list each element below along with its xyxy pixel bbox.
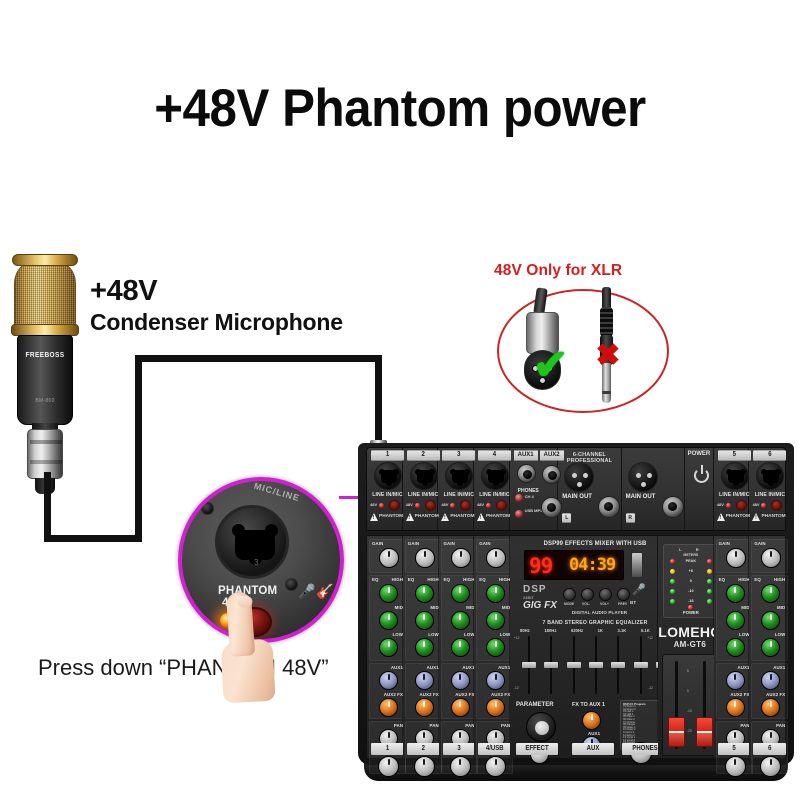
rear-channel-2[interactable]: 2 LINE IN/MIC 48V PHANTOM [403,448,439,530]
effect-tab: EFFECT [516,743,558,755]
phantom-button-4[interactable] [496,500,507,511]
eq-frequency-labels: 80Hz 180Hz 630Hz 1K 3.1K 5.1K 10K [520,628,672,633]
eq-high-knob[interactable] [761,584,780,603]
aux1-label: AUX1 [498,665,510,670]
rear-power-section[interactable]: POWER [685,448,714,530]
phantom-button-1[interactable] [389,500,400,511]
rear-channel-5[interactable]: 5 LINE IN/MIC 48V PHANTOM [714,448,750,530]
eq-mid-knob[interactable] [761,611,780,630]
high-label: HIGH [774,577,785,582]
eq-high-knob[interactable] [486,584,505,603]
eq-high-knob[interactable] [726,584,745,603]
panel-screw [201,502,214,515]
audio-mixer: 1 LINE IN/MIC 48V PHANTOM 2 LINE IN/MIC … [358,443,794,783]
master-fader-left[interactable] [668,717,685,747]
led-display: 99 04:39 [524,550,624,580]
48v-label: 48V [477,502,484,507]
channel-number-tab: 1 [371,450,404,460]
green-check-icon: ✔ [533,345,573,385]
eq-label: EQ [408,577,415,582]
channel-strip-6[interactable]: GAIN EQ HIGH MID LOW AUX1 AUX2 FX PAN [749,536,785,758]
eq-label: EQ [719,577,726,582]
graphic-eq-sliders[interactable] [522,636,670,694]
gain-section[interactable]: GAIN [476,539,513,573]
channel-strip-2[interactable]: GAIN EQ HIGH MID LOW AUX1 AUX2 FX PAN [403,536,439,758]
eq-mid-knob[interactable] [379,611,398,630]
phantom-label: PHANTOM [726,514,750,519]
aux1-knob[interactable] [761,671,780,690]
rear-aux-section[interactable]: AUX1 AUX2 CH 4 USB MP3 PHONES [510,448,559,530]
eq-section[interactable]: EQ HIGH MID LOW [369,575,406,661]
player-btn-label-prev: PREV [618,602,627,606]
gain-label: GAIN [372,541,383,546]
channel-number-tab: 2 [407,450,440,460]
eq-section[interactable]: EQ HIGH MID LOW [716,575,753,661]
combo-jack-2[interactable] [410,462,438,490]
high-label: HIGH [392,577,403,582]
low-label: LOW [775,632,786,637]
mic-body: FREEBOSS BM-800 [17,335,73,425]
eq-mid-knob[interactable] [486,611,505,630]
phantom-label: PHANTOM [379,514,403,519]
aux1-knob[interactable] [415,671,434,690]
aux1-label: AUX1 [773,665,785,670]
aux-section[interactable]: AUX1 AUX2 FX [751,663,788,719]
phantom-label: PHANTOM [486,514,510,519]
aux-section[interactable]: AUX1 AUX2 FX [369,663,406,719]
gain-label: GAIN [754,541,765,546]
aux1-knob[interactable] [451,671,470,690]
warning-icon [752,513,760,521]
aux1-label: AUX1 [737,665,749,670]
xlr-cable-segment [44,535,142,542]
eq-scale-top-left: +12 [514,636,519,640]
mixer-rear-panel: 1 LINE IN/MIC 48V PHANTOM 2 LINE IN/MIC … [366,447,786,531]
eq-high-knob[interactable] [379,584,398,603]
high-label: HIGH [463,577,474,582]
dsp-logo: DSP 24BIT GIG FX [523,584,558,606]
fader-scale: 0 [687,689,689,693]
fader-scale: 5 [687,669,689,673]
ch4-rca-label: CH 4 [525,494,534,499]
xlr-cable-segment [135,355,142,542]
aux1-knob[interactable] [726,671,745,690]
level-meter: L R METERS PEAK +6 0 -10 -16 POWER [663,544,717,618]
player-button-prev[interactable] [617,588,630,601]
phones-label: PHONES [518,488,539,494]
phantom-label: PHANTOM [761,514,785,519]
gain-section[interactable]: GAIN [369,539,406,573]
condenser-microphone: FREEBOSS BM-800 [8,252,86,502]
48v-led [415,503,420,508]
dsp-logo-text: DSP [523,584,558,595]
gain-knob[interactable] [726,548,746,568]
mic-ring-top [12,254,78,266]
eq-low-knob[interactable] [379,638,398,657]
mic-model-label: BM-800 [18,398,72,404]
48v-led [379,503,384,508]
phantom-button-3[interactable] [460,500,471,511]
guitar-icon: 🎸 [316,583,333,600]
eq-slider[interactable] [522,636,536,694]
rear-main-right[interactable]: MAIN OUT R [622,448,685,530]
rear-channel-4[interactable]: 4 LINE IN/MIC 48V PHANTOM [474,448,510,530]
eq-low-knob[interactable] [486,638,505,657]
meter-row-zero: 0 [664,579,718,587]
combo-jack-1[interactable] [374,462,402,490]
48v-label: 48V [717,502,724,507]
pan-label: PAN [501,723,510,728]
channel-tab: 5 [718,743,751,755]
combo-jack-4[interactable] [481,462,509,490]
meter-row-minus10: -10 [664,589,718,597]
mic-grille [14,258,76,330]
warning-icon [370,513,378,521]
meter-brand-fader-section: L R METERS PEAK +6 0 -10 -16 POWER [658,536,714,758]
eq-freq: 5.1K [641,628,650,633]
eq-high-knob[interactable] [415,584,434,603]
low-label: LOW [500,632,511,637]
xlr-cable-segment [135,355,382,362]
aux1-label: AUX1 [391,665,403,670]
eq-section[interactable]: EQ HIGH MID LOW [751,575,788,661]
eq-scale-bottom-left: -12 [514,686,519,690]
player-button-volup[interactable] [599,588,612,601]
master-fader-well: 5 0 -10 -20 [662,654,718,756]
warning-icon [441,513,449,521]
aux2fx-label: AUX2 FX [491,692,510,697]
player-button-mode[interactable] [563,588,576,601]
gain-knob[interactable] [451,548,471,568]
pan-label: PAN [430,723,439,728]
eq-mid-knob[interactable] [451,611,470,630]
aux2-fx-knob[interactable] [415,698,434,717]
gain-knob[interactable] [379,548,399,568]
aux-section[interactable]: AUX1 AUX2 FX [716,663,753,719]
channel-tab: 4/USB [478,743,511,755]
gain-label: GAIN [479,541,490,546]
low-label: LOW [428,632,439,637]
mixer-control-surface: GAIN EQ HIGH MID LOW AUX1 AUX2 FX PAN [366,535,786,759]
mic-voltage-label: +48V [90,275,157,308]
meter-row-peak: PEAK [664,559,718,567]
main-out-label-left: MAIN OUT [562,494,592,501]
eq-section[interactable]: EQ HIGH MID LOW [441,575,478,661]
channel-number-tab: 5 [718,450,751,460]
pan-label: PAN [740,723,749,728]
low-label: LOW [392,632,403,637]
mid-label: MID [430,605,438,610]
48v-led [486,503,491,508]
display-time: 04:39 [569,555,615,575]
gain-section[interactable]: GAIN [441,539,478,573]
48v-label: 48V [406,502,413,507]
eq-slider[interactable] [544,636,558,694]
channel-tab: 1 [371,743,404,755]
eq-mid-knob[interactable] [415,611,434,630]
high-label: HIGH [738,577,749,582]
gain-knob[interactable] [761,548,781,568]
combo-jack-5[interactable] [721,462,749,490]
aux2-fx-knob[interactable] [486,698,505,717]
eq-freq: 80Hz [520,628,530,633]
xlr-combo-jack[interactable]: 3 [215,505,289,579]
display-number: 99 [529,554,552,578]
aux2fx-label: AUX2 FX [730,692,749,697]
aux2-fx-knob[interactable] [379,698,398,717]
aux1-knob[interactable] [379,671,398,690]
warning-icon [717,513,725,521]
red-cross-icon: ✖ [594,342,622,370]
channel-strip-3[interactable]: GAIN EQ HIGH MID LOW AUX1 AUX2 FX PAN [439,536,475,758]
player-btn-label-volup: VOL+ [600,602,609,606]
48v-label: 48V [441,502,448,507]
level-knob[interactable] [450,756,471,777]
xlr-cable-segment [44,472,51,542]
main-out-xlr-left[interactable] [564,462,594,492]
microphone-icon: 🎤 [298,583,315,600]
dsp-center-section: DSP99 EFFECTS MIXER WITH USB 99 04:39 DS… [510,536,658,758]
aux1-jack[interactable] [517,464,536,483]
eq-label: EQ [754,577,761,582]
line-in-mic-label: LINE IN/MIC [749,492,790,498]
aux-section[interactable]: AUX1 AUX2 FX [405,663,442,719]
ch4-rca-jack[interactable] [515,494,523,502]
aux-section[interactable]: AUX1 AUX2 FX [441,663,478,719]
aux2-fx-knob[interactable] [451,698,470,717]
power-symbol-icon[interactable] [694,468,709,483]
channel-number-tab: 4 [478,450,511,460]
eq-low-knob[interactable] [726,638,745,657]
parameter-knob[interactable] [526,712,556,742]
main-out-label-right: MAIN OUT [626,494,656,501]
48v-led [761,503,766,508]
phantom-label: PHANTOM [450,514,474,519]
pan-label: PAN [776,723,785,728]
channel-strip-1[interactable]: GAIN EQ HIGH MID LOW AUX1 AUX2 FX PAN [367,536,403,758]
gain-knob[interactable] [415,548,435,568]
parameter-label: PARAMETER [516,702,554,708]
level-knob[interactable] [485,756,506,777]
eq-freq: 1K [598,628,603,633]
mid-label: MID [466,605,474,610]
aux2-fx-knob[interactable] [761,698,780,717]
eq-mid-knob[interactable] [726,611,745,630]
instruction-caption: Press down “PHANTOM 48V” [38,655,329,681]
phantom-button-2[interactable] [425,500,436,511]
channel-number-tab: 6 [753,450,786,460]
aux1-label: AUX1 [514,450,538,460]
usb-rca-label: USB MP3 [525,508,543,513]
eq-slider[interactable] [589,636,603,694]
channel-tab: 6 [753,743,786,755]
level-knob[interactable] [378,756,399,777]
mid-label: MID [741,605,749,610]
channel-strip-5[interactable]: GAIN EQ HIGH MID LOW AUX1 AUX2 FX PAN [714,536,750,758]
mid-label: MID [395,605,403,610]
eq-label: EQ [372,577,379,582]
warning-icon [406,513,414,521]
gigfx-logo-text: GIG FX [523,600,558,611]
gain-section[interactable]: GAIN [716,539,753,573]
player-button-voldown[interactable] [581,588,594,601]
eq-section[interactable]: EQ HIGH MID LOW [476,575,513,661]
fader-scale: -20 [687,729,692,733]
master-fader-right[interactable] [696,717,713,747]
professional-label: 6-CHANNEL PROFESSIONAL [558,452,620,464]
brand-name: LOMEHO [658,624,722,640]
main-left-tab: L [562,513,571,522]
warning-icon [477,513,485,521]
gain-knob[interactable] [486,548,506,568]
graphic-eq-title: 7 BAND STEREO GRAPHIC EQUALIZER [510,620,680,626]
combo-jack-6[interactable] [756,462,784,490]
rear-channel-6[interactable]: 6 LINE IN/MIC 48V PHANTOM [749,448,785,530]
eq-low-knob[interactable] [451,638,470,657]
low-label: LOW [464,632,475,637]
pan-label: PAN [394,723,403,728]
high-label: HIGH [427,577,438,582]
aux-tab: AUX [572,743,614,755]
eq-label: EQ [479,577,486,582]
channel-tab: 2 [407,743,440,755]
channel-number-tab: 3 [442,450,475,460]
eq-freq: 630Hz [571,628,583,633]
mid-label: MID [777,605,785,610]
mic-brand-label: FREEBOSS [18,351,72,359]
meter-row-plus6: +6 [664,569,718,577]
panel-screw [285,578,298,591]
aux2fx-label: AUX2 FX [455,692,474,697]
aux1-label: AUX1 [427,665,439,670]
model-name: AM-GT6 [658,640,722,649]
phantom-label: PHANTOM [415,514,439,519]
eq-freq: 3.1K [617,628,626,633]
aux2fx-label: AUX2 FX [766,692,785,697]
mic-type-label: Condenser Microphone [90,309,343,336]
meter-title: METERS [664,553,718,557]
player-btn-label-mode: MODE [564,602,574,606]
low-label: LOW [739,632,750,637]
bluetooth-label: BT [630,600,636,605]
level-knob[interactable] [725,756,746,777]
pan-label: PAN [465,723,474,728]
dsp-title-label: DSP99 EFFECTS MIXER WITH USB [510,541,680,547]
main-out-xlr-right[interactable] [628,462,658,492]
channel-strip-4[interactable]: GAIN EQ HIGH MID LOW AUX1 AUX2 FX PAN [474,536,510,758]
main-out-trs-right[interactable] [662,496,684,518]
48v-label: 48V [752,502,759,507]
fader-scale: -10 [687,709,692,713]
eq-section[interactable]: EQ HIGH MID LOW [405,575,442,661]
rear-channel-3[interactable]: 3 LINE IN/MIC 48V PHANTOM [438,448,474,530]
gain-section[interactable]: GAIN [405,539,442,573]
aux2fx-label: AUX2 FX [420,692,439,697]
aux1-label: AUX1 [462,665,474,670]
rear-channel-1[interactable]: 1 LINE IN/MIC 48V PHANTOM [367,448,403,530]
power-led-label: POWER [664,610,718,615]
aux1-knob[interactable] [486,671,505,690]
main-right-tab: R [626,513,635,522]
xlr-only-note: 48V Only for XLR [494,262,622,280]
combo-jack-3[interactable] [445,462,473,490]
gain-label: GAIN [719,541,730,546]
power-label: POWER [685,451,713,457]
eq-slider[interactable] [567,636,581,694]
high-label: HIGH [499,577,510,582]
gain-section[interactable]: GAIN [751,539,788,573]
48v-led [726,503,731,508]
page-title: +48V Phantom power [28,78,772,139]
eq-slider[interactable] [634,636,648,694]
aux-section[interactable]: AUX1 AUX2 FX [476,663,513,719]
digital-audio-player-label: DIGITAL AUDIO PLAYER [562,610,637,615]
eq-slider[interactable] [611,636,625,694]
eq-high-knob[interactable] [451,584,470,603]
usb-port[interactable] [631,552,643,578]
48v-led [450,503,455,508]
eq-label: EQ [444,577,451,582]
48v-label: 48V [370,502,377,507]
microphone-icon: 🎤 [632,583,646,596]
meter-lr-labels: L R [664,547,718,552]
level-knob[interactable] [414,756,435,777]
player-btn-label-voldown: VOL- [582,602,590,606]
usb-rca-jack[interactable] [515,510,523,518]
rear-main-left[interactable]: 6-CHANNEL PROFESSIONAL MAIN OUT L [558,448,621,530]
channel-tab: 3 [443,743,476,755]
eq-low-knob[interactable] [761,638,780,657]
fx-aux1-knob[interactable] [582,711,601,730]
level-knob[interactable] [760,756,781,777]
mid-label: MID [502,605,510,610]
phantom-button-6[interactable] [771,500,782,511]
eq-low-knob[interactable] [415,638,434,657]
gain-label: GAIN [408,541,419,546]
pointing-hand [222,592,282,702]
aux2-fx-knob[interactable] [726,698,745,717]
eq-freq: 180Hz [544,628,556,633]
phantom-button-5[interactable] [736,500,747,511]
aux2fx-label: AUX2 FX [384,692,403,697]
fx-to-aux-label: FX TO AUX 1 [572,702,605,708]
gain-label: GAIN [444,541,455,546]
main-out-trs-left[interactable] [598,496,620,518]
